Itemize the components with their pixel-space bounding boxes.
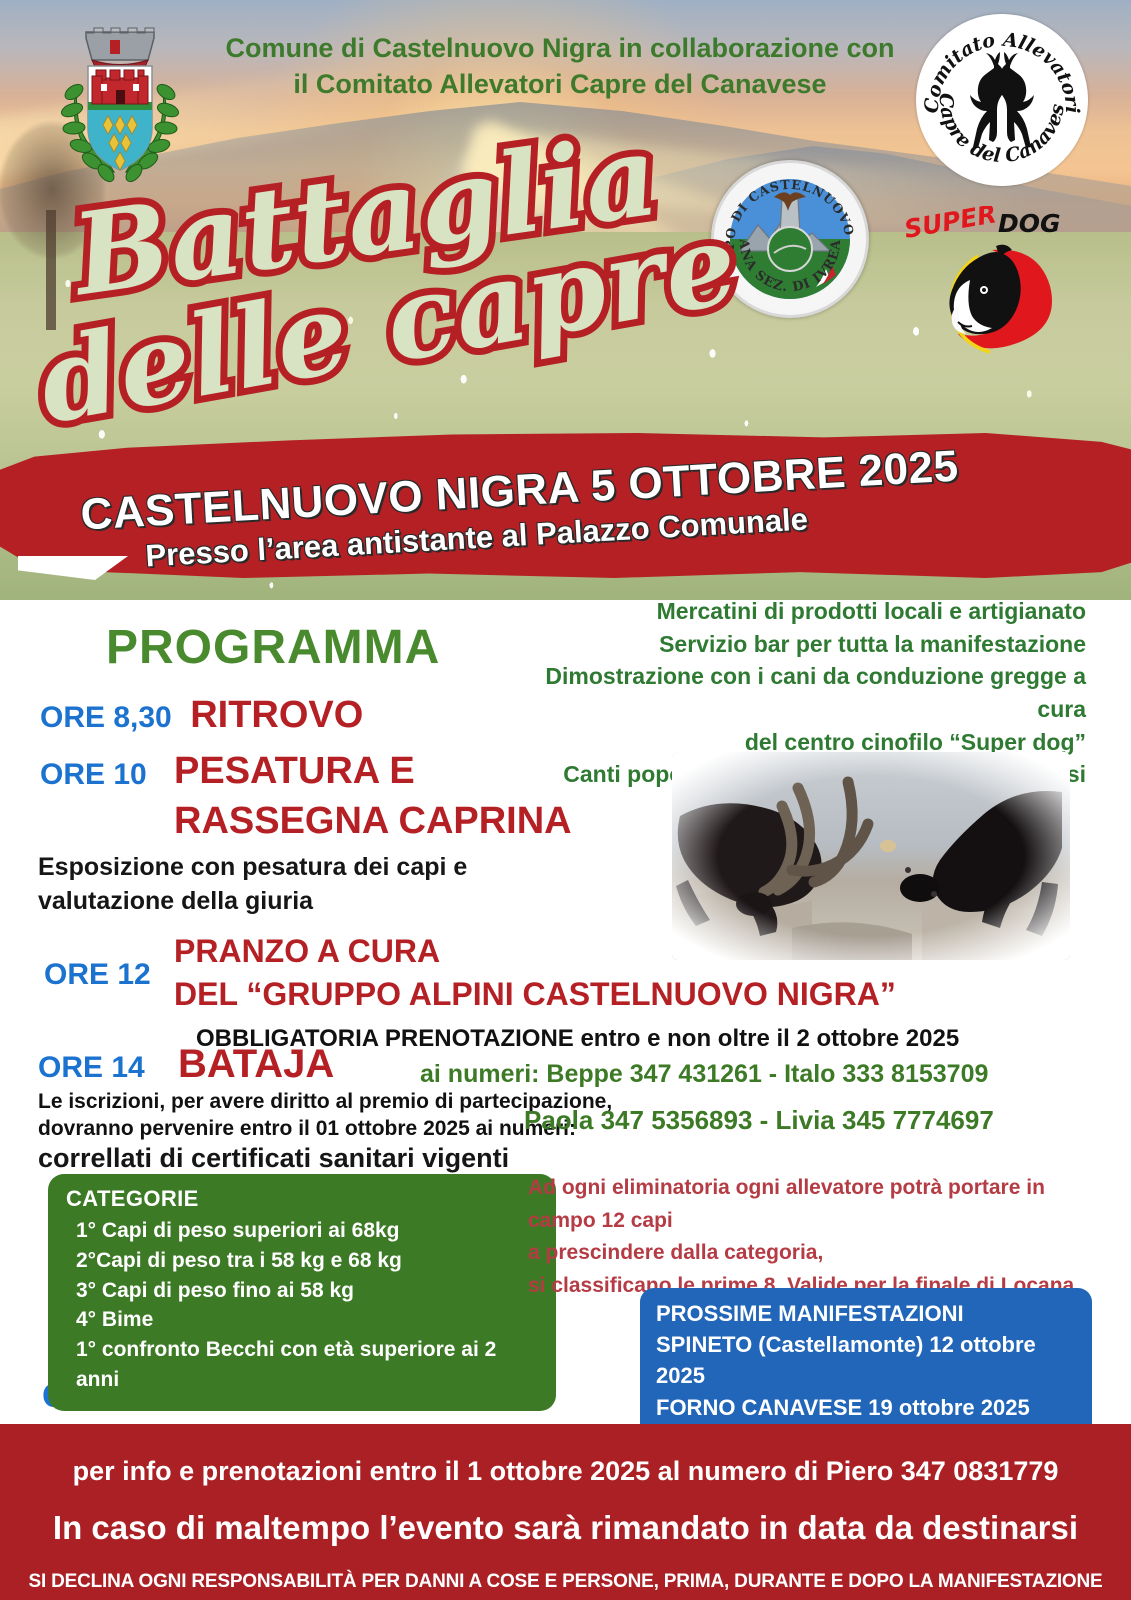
program-item-2-activity-line-1: PESATURA E bbox=[174, 750, 415, 793]
program-item-2-time-wrap: ORE 10 bbox=[40, 758, 147, 792]
program-item-2-note-line-2: valutazione della giuria bbox=[38, 886, 313, 917]
superdog-word-dog: DOG bbox=[998, 209, 1061, 238]
collaboration-line-2: il Comitato Allevatori Capre del Canaves… bbox=[200, 66, 920, 102]
footer-info: per info e prenotazioni entro il 1 ottob… bbox=[0, 1424, 1131, 1487]
category-item: 4° Bime bbox=[76, 1305, 538, 1335]
side-note-2: Servizio bar per tutta la manifestazione bbox=[498, 628, 1086, 661]
elimination-rule-1: Ad ogni eliminatoria ogni allevatore pot… bbox=[528, 1172, 1108, 1237]
programma-heading: PROGRAMMA bbox=[106, 620, 440, 675]
program-item-4-note-line-3: correllati di certificati sanitari vigen… bbox=[38, 1142, 509, 1176]
program-item-4-activity: BATAJA bbox=[178, 1042, 334, 1087]
program-item-1-time: ORE 8,30 bbox=[40, 701, 172, 734]
program-item-4-time: ORE 14 bbox=[38, 1051, 145, 1084]
program-item-3-activity-line-2: DEL “GRUPPO ALPINI CASTELNUOVO NIGRA” bbox=[174, 977, 896, 1013]
collaboration-text: Comune di Castelnuovo Nigra in collabora… bbox=[200, 30, 920, 103]
elimination-rule-2: a prescindere dalla categoria, bbox=[528, 1237, 1108, 1270]
program-item-4-note-line-2: dovranno pervenire entro il 01 ottobre 2… bbox=[38, 1117, 576, 1141]
program-item-2-note-line-1: Esposizione con pesatura dei capi e bbox=[38, 852, 467, 883]
program-item-3-time-wrap: ORE 12 bbox=[44, 958, 151, 992]
program-item-2-activity-line-2: RASSEGNA CAPRINA bbox=[174, 800, 572, 843]
categories-list: 1° Capi di peso superiori ai 68kg 2°Capi… bbox=[66, 1216, 538, 1395]
next-event-item: FORNO CANAVESE 19 ottobre 2025 bbox=[656, 1392, 1076, 1423]
categories-box: CATEGORIE 1° Capi di peso superiori ai 6… bbox=[48, 1174, 556, 1411]
program-item-1-activity: RITROVO bbox=[190, 694, 363, 736]
footer-weather: In caso di maltempo l’evento sarà rimand… bbox=[0, 1487, 1131, 1547]
side-note-1: Mercatini di prodotti locali e artigiana… bbox=[498, 595, 1086, 628]
superdog-logo: SUPER DOG bbox=[900, 206, 1070, 356]
category-item: 2°Capi di peso tra i 58 kg e 68 kg bbox=[76, 1246, 538, 1276]
poster-title: Battaglia delle capre bbox=[0, 150, 790, 440]
program-item-4-time-wrap: ORE 14 bbox=[38, 1051, 145, 1085]
program-item-4-phones: Paola 347 5356893 - Livia 345 7774697 bbox=[524, 1105, 994, 1136]
categories-title: CATEGORIE bbox=[66, 1186, 538, 1212]
next-event-item: SPINETO (Castellamonte) 12 ottobre 2025 bbox=[656, 1329, 1076, 1391]
collaboration-line-1: Comune di Castelnuovo Nigra in collabora… bbox=[200, 30, 920, 66]
category-item: 1° confronto Becchi con età superiore ai… bbox=[76, 1335, 538, 1395]
program-item-3-time: ORE 12 bbox=[44, 958, 151, 991]
footer-banner: per info e prenotazioni entro il 1 ottob… bbox=[0, 1424, 1131, 1600]
poster-root: Comitato Allevatori Capre del Canavese bbox=[0, 0, 1131, 1600]
program-item-2-time: ORE 10 bbox=[40, 758, 147, 791]
elimination-rules: Ad ogni eliminatoria ogni allevatore pot… bbox=[528, 1172, 1108, 1302]
fighting-goats-photo bbox=[672, 752, 1070, 960]
superdog-word-super: SUPER bbox=[902, 206, 999, 244]
footer-disclaimer: SI DECLINA OGNI RESPONSABILITÀ PER DANNI… bbox=[0, 1547, 1131, 1593]
category-item: 1° Capi di peso superiori ai 68kg bbox=[76, 1216, 538, 1246]
program-item-3-activity-line-1: PRANZO A CURA bbox=[174, 934, 440, 970]
next-events-title: PROSSIME MANIFESTAZIONI bbox=[656, 1298, 1076, 1329]
comitato-allevatori-logo: Comitato Allevatori Capre del Canavese bbox=[916, 14, 1088, 186]
side-note-3: Dimostrazione con i cani da conduzione g… bbox=[498, 660, 1086, 725]
program-item-3-phones: ai numeri: Beppe 347 431261 - Italo 333 … bbox=[420, 1060, 988, 1089]
category-item: 3° Capi di peso fino ai 58 kg bbox=[76, 1276, 538, 1306]
program-item-1: ORE 8,30 RITROVO bbox=[40, 694, 363, 737]
